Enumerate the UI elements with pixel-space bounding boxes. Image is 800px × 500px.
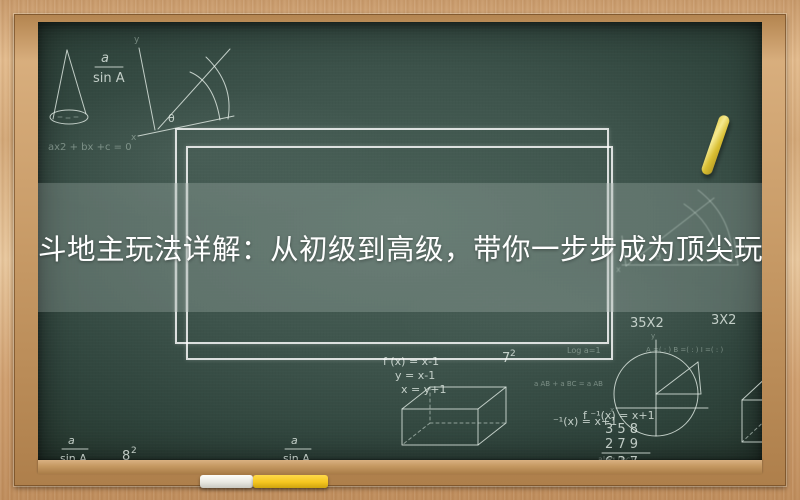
svg-text:a: a bbox=[291, 434, 298, 447]
cube-drawing-right bbox=[742, 374, 762, 442]
blackboard-surface: a sin A ax2 + bx +c = 0 y x θ bbox=[38, 22, 762, 462]
svg-text:y = x-1: y = x-1 bbox=[395, 369, 435, 382]
vector-formula: a AB + a BC = a AB bbox=[534, 380, 603, 388]
sine-rule-formula-2: a sin A bbox=[283, 434, 311, 462]
sine-rule-formula-1: a sin A bbox=[60, 434, 88, 462]
mult-35x2: 35X2 bbox=[630, 316, 664, 331]
svg-text:θ: θ bbox=[168, 112, 175, 125]
addition-column: 3 5 8 2 7 9 6 3 7 bbox=[602, 422, 650, 462]
quadratic-formula: ax2 + bx +c = 0 bbox=[48, 142, 132, 153]
cube-drawing-center bbox=[402, 387, 506, 445]
chalk-white-icon bbox=[200, 475, 253, 488]
svg-text:x: x bbox=[131, 133, 137, 143]
svg-text:a: a bbox=[101, 51, 109, 66]
chalk-yellow-icon bbox=[253, 475, 328, 488]
chalk-tray bbox=[38, 460, 762, 474]
svg-text:y: y bbox=[651, 332, 655, 340]
svg-text:x = y+1: x = y+1 bbox=[401, 383, 446, 396]
chalk-stick-yellow-icon bbox=[700, 114, 731, 176]
matrix-notation: A =( : ) B =( : ) I =( : ) bbox=[646, 346, 723, 354]
svg-text:sin A: sin A bbox=[93, 71, 125, 86]
svg-text:y: y bbox=[134, 35, 140, 45]
svg-text:x: x bbox=[610, 406, 614, 414]
svg-text:3 5 8: 3 5 8 bbox=[605, 422, 638, 437]
sine-rule-formula-topleft: a sin A bbox=[93, 51, 125, 86]
function-formulas: f (x) = x-1 y = x-1 x = y+1 bbox=[383, 355, 446, 396]
inverse-function-right: ⁻¹(x) = x+1 bbox=[553, 415, 617, 428]
svg-text:2: 2 bbox=[131, 446, 137, 456]
cone-drawing bbox=[50, 50, 88, 124]
angle-diagram-topleft: y x θ bbox=[131, 35, 234, 143]
inverse-function-center: f ⁻¹(x) = x+1 bbox=[583, 409, 655, 422]
svg-text:a: a bbox=[68, 434, 75, 447]
page-title: 斗地主玩法详解：从初级到高级，带你一步步成为顶尖玩家! bbox=[38, 183, 762, 312]
circle-axes-diagram: y x bbox=[610, 332, 708, 436]
mult-3x2: 3X2 bbox=[711, 313, 736, 328]
svg-text:2 7 9: 2 7 9 bbox=[605, 437, 638, 452]
blackboard-banner: a sin A ax2 + bx +c = 0 y x θ bbox=[0, 0, 800, 500]
